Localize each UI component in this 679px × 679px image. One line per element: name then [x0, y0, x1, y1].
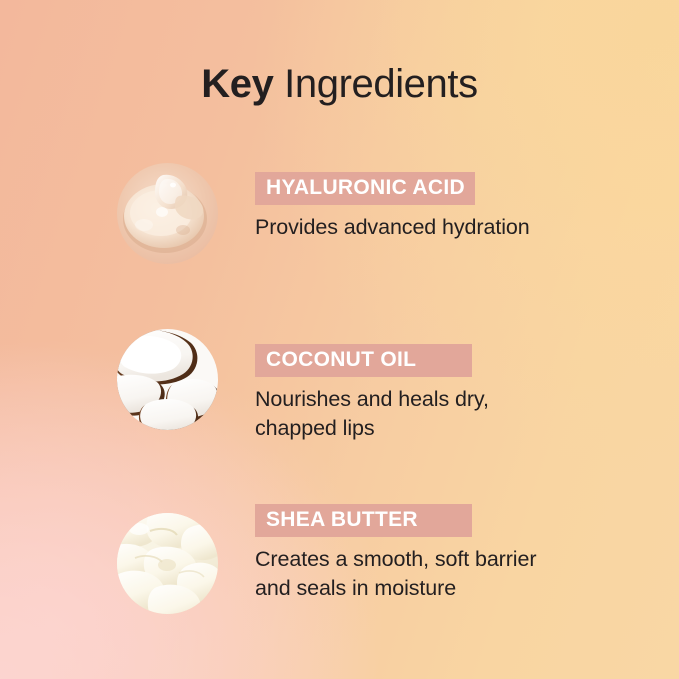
- page-title: Key Ingredients: [0, 59, 679, 109]
- ingredient-description: Creates a smooth, soft barrier and seals…: [255, 545, 536, 603]
- ingredient-label-band: COCONUT OIL: [255, 344, 472, 377]
- page-title-bold-word: Key: [201, 62, 273, 106]
- ingredient-text: SHEA BUTTER Creates a smooth, soft barri…: [255, 504, 536, 603]
- shea-butter-chunks-image: [117, 513, 218, 614]
- hyaluronic-acid-gel-droplet-image: [117, 163, 218, 264]
- ingredient-label: SHEA BUTTER: [266, 509, 418, 531]
- ingredient-label: COCONUT OIL: [266, 349, 416, 371]
- key-ingredients-poster: Key Ingredients: [0, 0, 679, 679]
- coconut-pieces-image: [117, 329, 218, 430]
- page-title-light-word: Ingredients: [273, 62, 477, 106]
- ingredient-text: COCONUT OIL Nourishes and heals dry, cha…: [255, 344, 489, 443]
- ingredient-description: Nourishes and heals dry, chapped lips: [255, 385, 489, 443]
- ingredient-description: Provides advanced hydration: [255, 213, 530, 242]
- ingredient-label-band: HYALURONIC ACID: [255, 172, 475, 205]
- ingredient-text: HYALURONIC ACID Provides advanced hydrat…: [255, 172, 530, 242]
- ingredient-label: HYALURONIC ACID: [266, 177, 465, 199]
- ingredient-label-band: SHEA BUTTER: [255, 504, 472, 537]
